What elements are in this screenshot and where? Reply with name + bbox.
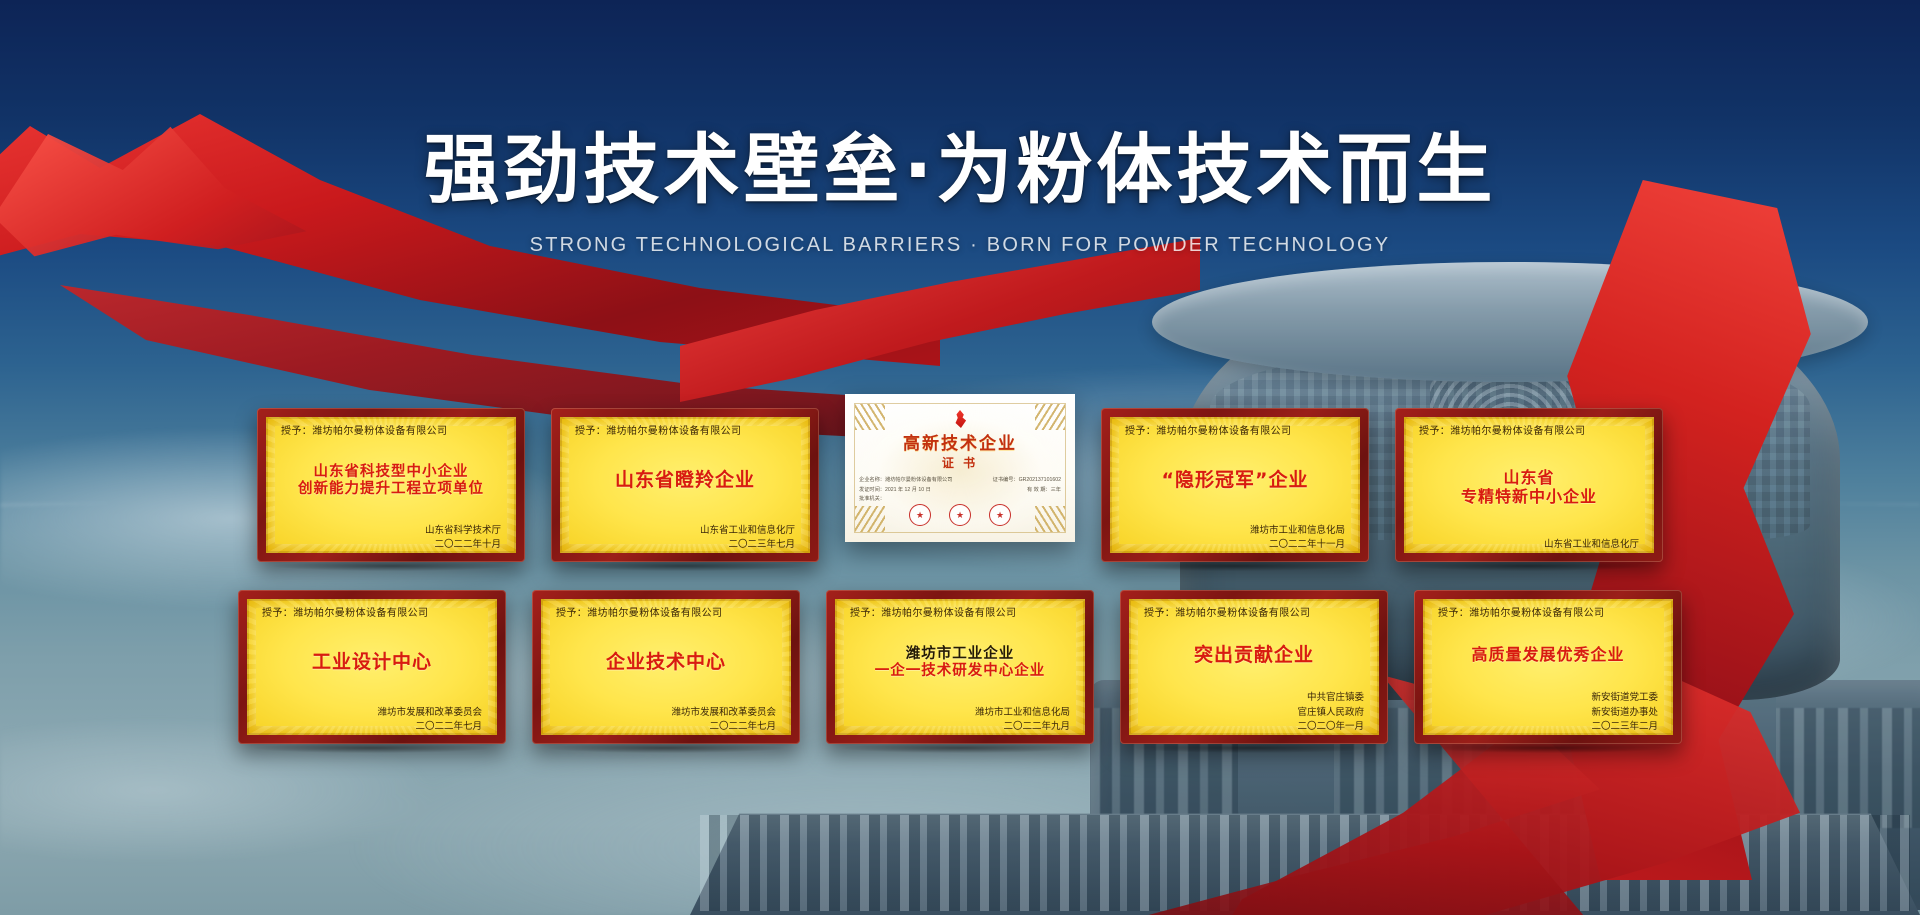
plaque-issuer-block: 潍坊市工业和信息化局二〇二二年十一月 xyxy=(1119,524,1351,553)
plaque-title: “隐形冠军”企业 xyxy=(1119,438,1351,524)
plaque-issuer-block: 潍坊市发展和改革委员会二〇二二年七月 xyxy=(550,706,782,735)
certificate-field: 企业名称：潍坊帕尔曼粉体设备有限公司 xyxy=(859,476,952,483)
plaque-issuer-secondary: 新安街道办事处 xyxy=(1432,706,1658,720)
award-plaque-enterprise-technology-center[interactable]: 授予：潍坊帕尔曼粉体设备有限公司企业技术中心潍坊市发展和改革委员会二〇二二年七月 xyxy=(532,590,800,744)
certificate-high-tech-enterprise-certificate[interactable]: 高新技术企业证 书企业名称：潍坊帕尔曼粉体设备有限公司证书编号：GR202137… xyxy=(845,394,1075,542)
plaque-issuer-block: 中共官庄镇委官庄镇人民政府二〇二〇年一月 xyxy=(1138,691,1370,734)
plaque-issuer-block: 山东省工业和信息化厅二〇二三年七月 xyxy=(569,524,801,553)
honors-banner-stage: 强劲技术壁垒·为粉体技术而生 STRONG TECHNOLOGICAL BARR… xyxy=(0,0,1920,915)
certificate-field-row: 企业名称：潍坊帕尔曼粉体设备有限公司证书编号：GR202137101602 xyxy=(859,476,1061,483)
certificate-field: 有 效 期：三年 xyxy=(1027,486,1061,493)
award-plaque-weifang-one-enterprise-one-technology-rd-center[interactable]: 授予：潍坊帕尔曼粉体设备有限公司潍坊市工业企业一企一技术研发中心企业潍坊市工业和… xyxy=(826,590,1094,744)
plaque-title: 山东省科技型中小企业创新能力提升工程立项单位 xyxy=(275,438,507,524)
plaque-content: 授予：潍坊帕尔曼粉体设备有限公司企业技术中心潍坊市发展和改革委员会二〇二二年七月 xyxy=(532,590,800,744)
plaque-title-line: “隐形冠军”企业 xyxy=(1162,470,1309,492)
certificate-seals xyxy=(909,504,1011,528)
plaque-issuer-block: 山东省科学技术厅二〇二二年十月 xyxy=(275,524,507,553)
plaque-content: 授予：潍坊帕尔曼粉体设备有限公司山东省瞪羚企业山东省工业和信息化厅二〇二三年七月 xyxy=(551,408,819,562)
certificate-field-row: 发证时间：2021 年 12 月 10 日有 效 期：三年 xyxy=(859,486,1061,493)
plaque-issuer: 潍坊市发展和改革委员会 xyxy=(550,706,776,720)
plaque-issuer-block: 新安街道党工委新安街道办事处二〇二三年二月 xyxy=(1432,691,1664,734)
award-plaque-high-quality-development-excellent-enterprise[interactable]: 授予：潍坊帕尔曼粉体设备有限公司高质量发展优秀企业新安街道党工委新安街道办事处二… xyxy=(1414,590,1682,744)
plaque-issuer: 潍坊市工业和信息化局 xyxy=(844,706,1070,720)
plaque-awardee-line: 授予：潍坊帕尔曼粉体设备有限公司 xyxy=(550,604,782,619)
plaque-content: 授予：潍坊帕尔曼粉体设备有限公司突出贡献企业中共官庄镇委官庄镇人民政府二〇二〇年… xyxy=(1120,590,1388,744)
plaque-title-line: 一企一技术研发中心企业 xyxy=(875,663,1046,680)
plaque-date: 二〇二三年二月 xyxy=(1432,720,1658,734)
awards-row-1: 授予：潍坊帕尔曼粉体设备有限公司山东省科技型中小企业创新能力提升工程立项单位山东… xyxy=(0,408,1920,562)
plaque-title: 潍坊市工业企业一企一技术研发中心企业 xyxy=(844,620,1076,706)
plaque-title-line: 潍坊市工业企业 xyxy=(906,646,1015,663)
stone-ledge-pattern xyxy=(700,815,1910,911)
plaque-issuer: 潍坊市工业和信息化局 xyxy=(1119,524,1345,538)
ding-rim xyxy=(1152,262,1868,382)
certificate-field: 发证时间：2021 年 12 月 10 日 xyxy=(859,486,931,493)
plaque-awardee-line: 授予：潍坊帕尔曼粉体设备有限公司 xyxy=(275,422,507,437)
certificate-subtitle: 证 书 xyxy=(942,454,978,471)
plaque-date: 二〇二二年七月 xyxy=(256,720,482,734)
plaque-awardee-line: 授予：潍坊帕尔曼粉体设备有限公司 xyxy=(1138,604,1370,619)
plaque-issuer: 中共官庄镇委 xyxy=(1138,691,1364,705)
plaque-date: 二〇二二年九月 xyxy=(844,720,1070,734)
plaque-issuer: 山东省工业和信息化厅 xyxy=(1413,538,1639,552)
plaque-date: 二〇二二年十月 xyxy=(275,538,501,552)
official-seal-icon xyxy=(909,504,931,526)
awards-row-2: 授予：潍坊帕尔曼粉体设备有限公司工业设计中心潍坊市发展和改革委员会二〇二二年七月… xyxy=(0,590,1920,744)
plaque-title: 工业设计中心 xyxy=(256,620,488,706)
flame-emblem-icon xyxy=(952,410,968,428)
plaque-content: 授予：潍坊帕尔曼粉体设备有限公司潍坊市工业企业一企一技术研发中心企业潍坊市工业和… xyxy=(826,590,1094,744)
certificate-field: 证书编号：GR202137101602 xyxy=(993,476,1061,483)
certificate-title: 高新技术企业 xyxy=(903,429,1017,454)
award-plaque-outstanding-contribution-enterprise[interactable]: 授予：潍坊帕尔曼粉体设备有限公司突出贡献企业中共官庄镇委官庄镇人民政府二〇二〇年… xyxy=(1120,590,1388,744)
plaque-awardee-line: 授予：潍坊帕尔曼粉体设备有限公司 xyxy=(1413,422,1645,437)
plaque-issuer: 潍坊市发展和改革委员会 xyxy=(256,706,482,720)
plaque-date: 二〇二三年七月 xyxy=(569,538,795,552)
award-plaque-hidden-champion-enterprise[interactable]: 授予：潍坊帕尔曼粉体设备有限公司“隐形冠军”企业潍坊市工业和信息化局二〇二二年十… xyxy=(1101,408,1369,562)
official-seal-icon xyxy=(989,504,1011,526)
plaque-title: 山东省专精特新中小企业 xyxy=(1413,438,1645,538)
plaque-date: 二〇二〇年一月 xyxy=(1138,720,1364,734)
plaque-issuer: 山东省工业和信息化厅 xyxy=(569,524,795,538)
plaque-title-line: 工业设计中心 xyxy=(312,652,432,674)
certificate-field-row: 批准机关： xyxy=(859,495,1061,502)
plaque-issuer-block: 山东省工业和信息化厅 xyxy=(1413,538,1645,552)
plaque-issuer-block: 潍坊市发展和改革委员会二〇二二年七月 xyxy=(256,706,488,735)
plaque-content: 授予：潍坊帕尔曼粉体设备有限公司高质量发展优秀企业新安街道党工委新安街道办事处二… xyxy=(1414,590,1682,744)
plaque-title-line: 山东省瞪羚企业 xyxy=(615,470,755,492)
plaque-content: 授予：潍坊帕尔曼粉体设备有限公司“隐形冠军”企业潍坊市工业和信息化局二〇二二年十… xyxy=(1101,408,1369,562)
certificate-fields: 企业名称：潍坊帕尔曼粉体设备有限公司证书编号：GR202137101602发证时… xyxy=(859,476,1061,502)
page-title: 强劲技术壁垒·为粉体技术而生 xyxy=(0,128,1920,212)
plaque-issuer-block: 潍坊市工业和信息化局二〇二二年九月 xyxy=(844,706,1076,735)
award-plaque-shandong-gazelle-enterprise[interactable]: 授予：潍坊帕尔曼粉体设备有限公司山东省瞪羚企业山东省工业和信息化厅二〇二三年七月 xyxy=(551,408,819,562)
plaque-title: 突出贡献企业 xyxy=(1138,620,1370,691)
plaque-content: 授予：潍坊帕尔曼粉体设备有限公司工业设计中心潍坊市发展和改革委员会二〇二二年七月 xyxy=(238,590,506,744)
official-seal-icon xyxy=(949,504,971,526)
award-plaque-shandong-specialized-sme[interactable]: 授予：潍坊帕尔曼粉体设备有限公司山东省专精特新中小企业山东省工业和信息化厅 xyxy=(1395,408,1663,562)
plaque-awardee-line: 授予：潍坊帕尔曼粉体设备有限公司 xyxy=(1119,422,1351,437)
awards-gallery: 授予：潍坊帕尔曼粉体设备有限公司山东省科技型中小企业创新能力提升工程立项单位山东… xyxy=(0,408,1920,744)
award-plaque-industrial-design-center[interactable]: 授予：潍坊帕尔曼粉体设备有限公司工业设计中心潍坊市发展和改革委员会二〇二二年七月 xyxy=(238,590,506,744)
plaque-title-line: 山东省科技型中小企业 xyxy=(314,464,469,481)
plaque-content: 授予：潍坊帕尔曼粉体设备有限公司山东省科技型中小企业创新能力提升工程立项单位山东… xyxy=(257,408,525,562)
page-subtitle: STRONG TECHNOLOGICAL BARRIERS · BORN FOR… xyxy=(0,234,1920,257)
plaque-issuer: 山东省科学技术厅 xyxy=(275,524,501,538)
plaque-date: 二〇二二年十一月 xyxy=(1119,538,1345,552)
plaque-title: 山东省瞪羚企业 xyxy=(569,438,801,524)
plaque-awardee-line: 授予：潍坊帕尔曼粉体设备有限公司 xyxy=(256,604,488,619)
plaque-title: 高质量发展优秀企业 xyxy=(1432,620,1664,691)
certificate-field: 批准机关： xyxy=(859,495,885,502)
plaque-title-line: 企业技术中心 xyxy=(606,652,726,674)
plaque-title-line: 高质量发展优秀企业 xyxy=(1471,646,1624,664)
plaque-issuer-secondary: 官庄镇人民政府 xyxy=(1138,706,1364,720)
certificate-body: 高新技术企业证 书企业名称：潍坊帕尔曼粉体设备有限公司证书编号：GR202137… xyxy=(859,408,1061,528)
plaque-date: 二〇二二年七月 xyxy=(550,720,776,734)
plaque-title-line: 突出贡献企业 xyxy=(1194,645,1314,667)
plaque-content: 授予：潍坊帕尔曼粉体设备有限公司山东省专精特新中小企业山东省工业和信息化厅 xyxy=(1395,408,1663,562)
plaque-awardee-line: 授予：潍坊帕尔曼粉体设备有限公司 xyxy=(844,604,1076,619)
plaque-awardee-line: 授予：潍坊帕尔曼粉体设备有限公司 xyxy=(569,422,801,437)
plaque-title-line: 专精特新中小企业 xyxy=(1461,488,1597,506)
plaque-title-line: 创新能力提升工程立项单位 xyxy=(298,481,484,498)
award-plaque-shandong-tech-sme-innovation[interactable]: 授予：潍坊帕尔曼粉体设备有限公司山东省科技型中小企业创新能力提升工程立项单位山东… xyxy=(257,408,525,562)
plaque-title-line: 山东省 xyxy=(1503,469,1554,487)
plaque-title: 企业技术中心 xyxy=(550,620,782,706)
banner-headline-block: 强劲技术壁垒·为粉体技术而生 STRONG TECHNOLOGICAL BARR… xyxy=(0,128,1920,257)
plaque-awardee-line: 授予：潍坊帕尔曼粉体设备有限公司 xyxy=(1432,604,1664,619)
plaque-issuer: 新安街道党工委 xyxy=(1432,691,1658,705)
